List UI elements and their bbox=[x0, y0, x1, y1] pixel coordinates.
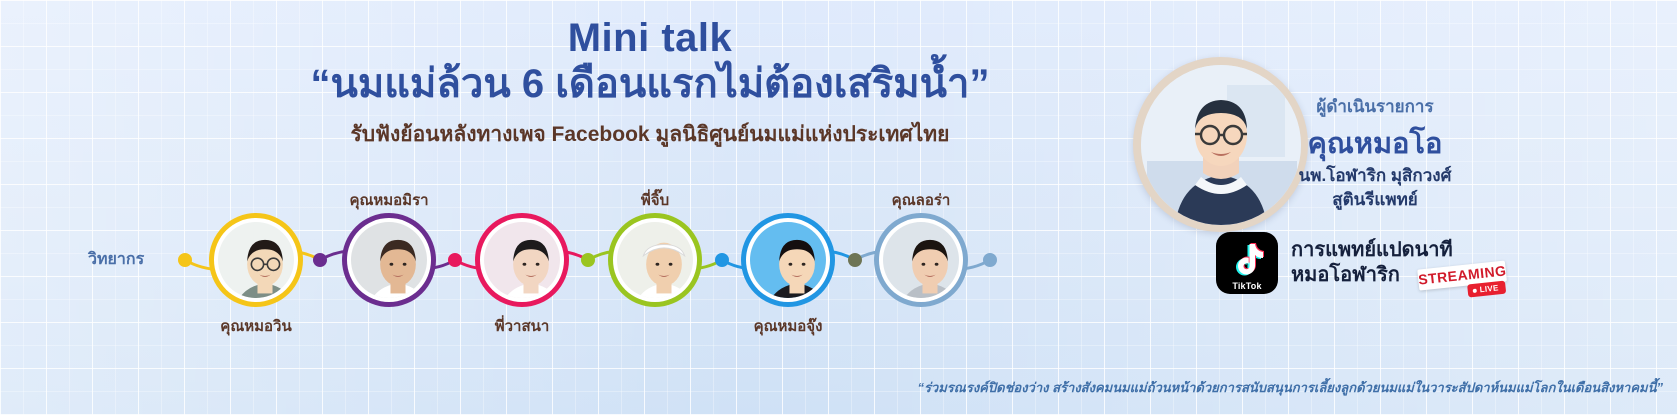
speaker-photo bbox=[617, 222, 693, 298]
timeline-connector-dot bbox=[581, 253, 595, 267]
host-avatar bbox=[1133, 57, 1308, 232]
speaker-timeline: วิทยากร คุณหมอวิน bbox=[0, 175, 1060, 375]
tiktok-icon[interactable]: TikTok bbox=[1216, 232, 1278, 294]
title-block: Mini talk “นมแม่ล้วน 6 เดือนแรกไม่ต้องเส… bbox=[180, 16, 1120, 147]
host-name: คุณหมอโอ bbox=[1308, 120, 1443, 166]
footer-slogan: “ร่วมรณรงค์ปิดช่องว่าง สร้างสังคมนมแม่ถ้… bbox=[0, 377, 1663, 398]
speaker-avatar[interactable] bbox=[608, 213, 702, 307]
live-label: LIVE bbox=[1479, 283, 1499, 294]
timeline-connector-dot bbox=[313, 253, 327, 267]
speaker-avatar[interactable] bbox=[209, 213, 303, 307]
speaker-name-label: พี่วาสนา bbox=[495, 314, 550, 338]
timeline-connector-dot bbox=[448, 253, 462, 267]
timeline-connector-dot bbox=[848, 253, 862, 267]
mini-talk-banner: Mini talk “นมแม่ล้วน 6 เดือนแรกไม่ต้องเส… bbox=[0, 0, 1677, 415]
tiktok-wordmark: TikTok bbox=[1216, 281, 1278, 291]
page-title: Mini talk bbox=[180, 16, 1120, 61]
timeline-connector-dot bbox=[983, 253, 997, 267]
speaker-photo bbox=[351, 222, 427, 298]
tiktok-note-glyph bbox=[1229, 241, 1265, 277]
speaker-photo bbox=[750, 222, 826, 298]
speaker-photo bbox=[883, 222, 959, 298]
speaker-name-label: พี่จิ๊บ bbox=[641, 188, 669, 212]
subtitle: รับฟังย้อนหลังทางเพจ Facebook มูลนิธิศูน… bbox=[180, 122, 1120, 147]
speaker-photo bbox=[218, 222, 294, 298]
speaker-avatar[interactable] bbox=[874, 213, 968, 307]
speaker-name-label: คุณหมอมิรา bbox=[349, 188, 428, 212]
host-specialty: สูตินรีแพทย์ bbox=[1332, 186, 1418, 213]
tiktok-channel[interactable]: TikTok การแพทย์แปดนาที หมอโอฬาริก bbox=[1216, 232, 1453, 294]
timeline-connector-dot bbox=[715, 253, 729, 267]
speaker-name-label: คุณลอร่า bbox=[892, 188, 951, 212]
title-quote: “นมแม่ล้วน 6 เดือนแรกไม่ต้องเสริมน้ำ” bbox=[180, 61, 1120, 108]
streaming-badge: STREAMING LIVE bbox=[1417, 261, 1508, 308]
live-indicator: LIVE bbox=[1467, 281, 1506, 298]
host-portrait-illustration bbox=[1141, 65, 1301, 225]
timeline-connector-dot bbox=[178, 253, 192, 267]
speaker-name-label: คุณหมอจุ๊ง bbox=[754, 314, 823, 338]
host-role: ผู้ดำเนินรายการ bbox=[1316, 93, 1433, 120]
speaker-avatar[interactable] bbox=[475, 213, 569, 307]
speaker-avatar[interactable] bbox=[342, 213, 436, 307]
speaker-name-label: คุณหมอวิน bbox=[220, 314, 291, 338]
live-dot-icon bbox=[1473, 288, 1477, 292]
speaker-avatar[interactable] bbox=[741, 213, 835, 307]
speaker-photo bbox=[484, 222, 560, 298]
host-photo-image bbox=[1141, 65, 1301, 225]
tiktok-channel-name-line1: การแพทย์แปดนาที bbox=[1291, 238, 1453, 263]
host-fullname: นพ.โอฬาริก มุสิกวงศ์ bbox=[1299, 162, 1452, 189]
